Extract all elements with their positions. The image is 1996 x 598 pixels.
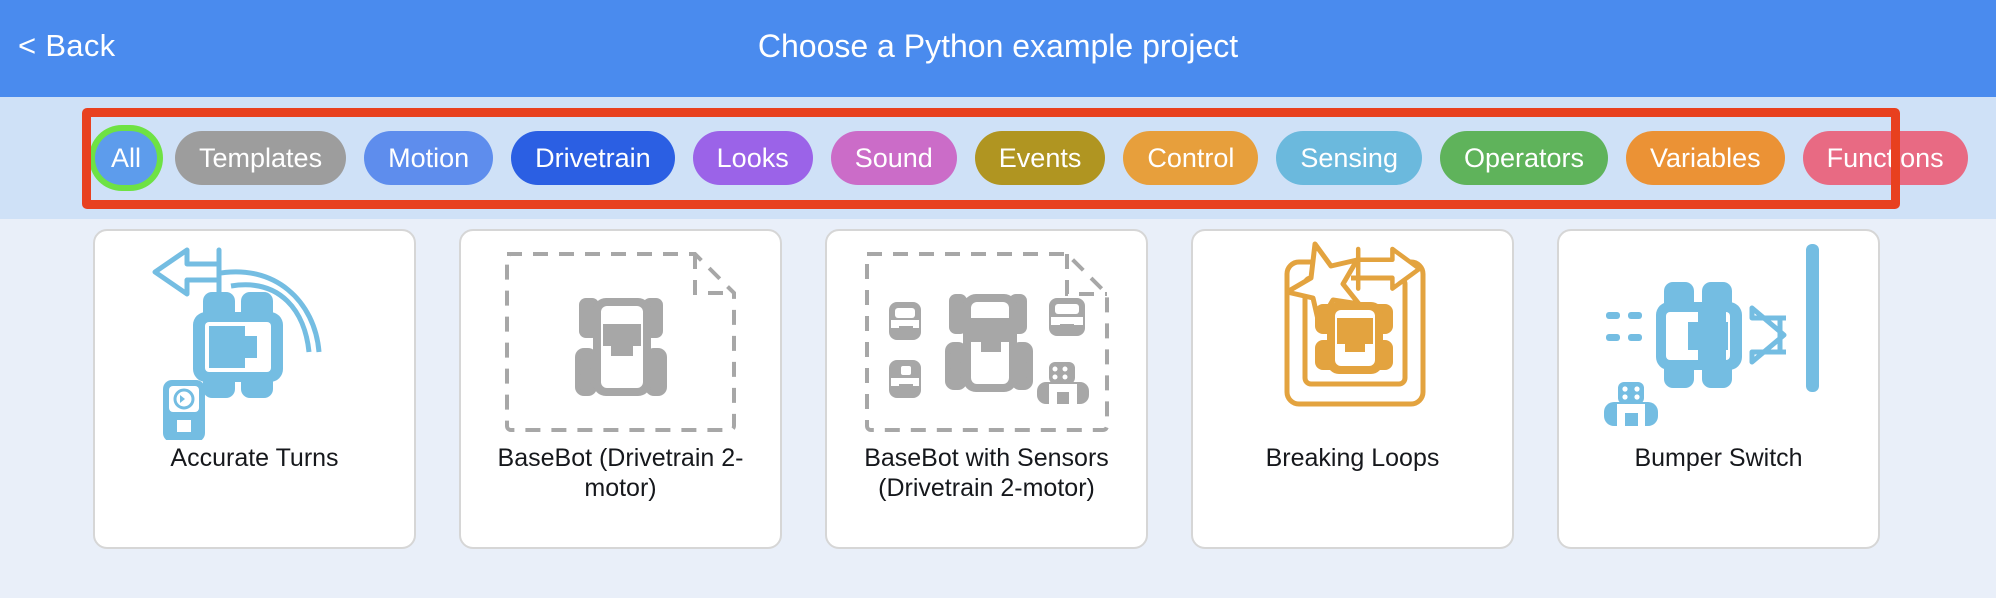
template-basebot-sensors-icon (827, 231, 1146, 443)
category-pill-label: Functions (1827, 143, 1944, 174)
category-pill-sound[interactable]: Sound (831, 131, 957, 185)
template-basebot-icon (461, 231, 780, 443)
category-pill-motion[interactable]: Motion (364, 131, 493, 185)
project-card[interactable]: BaseBot (Drivetrain 2-motor) (459, 229, 782, 549)
project-card[interactable]: Accurate Turns (93, 229, 416, 549)
category-pill-label: Events (999, 143, 1082, 174)
category-pill-label: Drivetrain (535, 143, 651, 174)
category-pill-looks[interactable]: Looks (693, 131, 813, 185)
category-pill-list[interactable]: All Templates Motion Drivetrain Looks So… (95, 121, 1901, 195)
app-header: < Back Choose a Python example project (0, 0, 1996, 97)
category-filter-bar: All Templates Motion Drivetrain Looks So… (0, 97, 1996, 219)
category-pill-label: Variables (1650, 143, 1761, 174)
category-pill-label: Templates (199, 143, 322, 174)
project-card[interactable]: BaseBot with Sensors (Drivetrain 2-motor… (825, 229, 1148, 549)
category-pill-templates[interactable]: Templates (175, 131, 346, 185)
project-card-row: Accurate Turns (93, 229, 1880, 549)
project-card-label: BaseBot (Drivetrain 2-motor) (461, 443, 780, 503)
category-pill-functions[interactable]: Functions (1803, 131, 1968, 185)
loop-break-robot-icon (1193, 231, 1512, 443)
project-card[interactable]: Breaking Loops (1191, 229, 1514, 549)
robot-turn-gyro-icon (95, 231, 414, 443)
robot-bumper-wall-icon (1559, 231, 1878, 443)
category-pill-label: Operators (1464, 143, 1584, 174)
category-pill-control[interactable]: Control (1123, 131, 1258, 185)
project-card-label: Bumper Switch (1559, 443, 1878, 473)
project-card-label: Breaking Loops (1193, 443, 1512, 473)
category-pill-label: All (111, 143, 141, 174)
project-card-label: BaseBot with Sensors (Drivetrain 2-motor… (827, 443, 1146, 503)
page-title: Choose a Python example project (0, 28, 1996, 65)
project-card[interactable]: Bumper Switch (1557, 229, 1880, 549)
category-pill-all[interactable]: All (95, 131, 157, 185)
category-pill-label: Control (1147, 143, 1234, 174)
category-pill-label: Sound (855, 143, 933, 174)
category-pill-label: Motion (388, 143, 469, 174)
category-pill-events[interactable]: Events (975, 131, 1106, 185)
category-pill-label: Sensing (1300, 143, 1398, 174)
category-pill-drivetrain[interactable]: Drivetrain (511, 131, 675, 185)
category-pill-variables[interactable]: Variables (1626, 131, 1785, 185)
category-pill-label: Looks (717, 143, 789, 174)
project-card-label: Accurate Turns (95, 443, 414, 473)
category-pill-operators[interactable]: Operators (1440, 131, 1608, 185)
project-card-grid: Accurate Turns (0, 219, 1996, 598)
category-pill-sensing[interactable]: Sensing (1276, 131, 1422, 185)
